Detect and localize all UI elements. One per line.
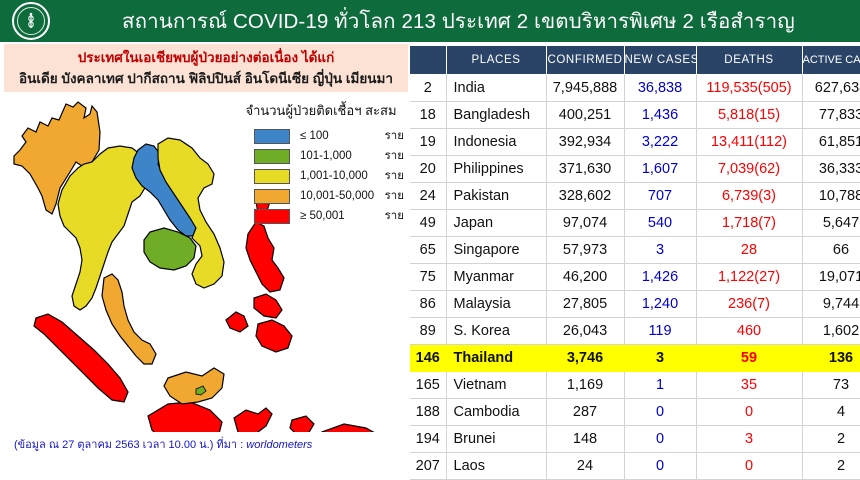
cell-active-cases: 2	[802, 426, 860, 453]
table-row[interactable]: 188Cambodia287004	[410, 399, 860, 426]
cell-new-cases: 1,436	[624, 102, 696, 129]
table-row[interactable]: 146Thailand3,746359136	[410, 345, 860, 372]
country-indonesia-borneo	[148, 402, 222, 432]
legend-item: 10,001-50,000 ราย	[236, 187, 406, 205]
table-row[interactable]: 165Vietnam1,16913573	[410, 372, 860, 399]
country-indonesia-papua	[322, 424, 396, 432]
cell-deaths: 7,039(62)	[696, 156, 802, 183]
cell-confirmed: 57,973	[546, 237, 624, 264]
cell-deaths: 5,818(15)	[696, 102, 802, 129]
cell-active-cases: 1,602	[802, 318, 860, 345]
cell-confirmed: 371,630	[546, 156, 624, 183]
legend-label: 1,001-10,000	[300, 170, 368, 182]
country-stats-table: PLACES CONFIRMED NEW CASES DEATHS ACTIVE…	[410, 45, 860, 480]
cell-active-cases: 136	[802, 345, 860, 372]
legend-title: จำนวนผู้ป่วยติดเชื้อฯ สะสม	[236, 100, 406, 121]
legend-label: 101-1,000	[300, 150, 352, 162]
table-body: 2India7,945,88836,838119,535(505)627,638…	[410, 75, 860, 480]
cell-new-cases: 1	[624, 372, 696, 399]
column-header-rank	[410, 46, 446, 75]
cell-place: Laos	[446, 453, 546, 480]
cell-place: Vietnam	[446, 372, 546, 399]
legend-unit: ราย	[385, 187, 406, 205]
legend-unit: ราย	[385, 167, 406, 185]
caduceus-icon	[22, 12, 40, 30]
emblem-inner-ring	[17, 7, 45, 35]
source-note-source: worldometers	[246, 439, 312, 451]
cell-rank: 207	[410, 453, 446, 480]
cell-confirmed: 287	[546, 399, 624, 426]
country-philippines-visayas	[254, 294, 282, 318]
country-malaysia-borneo	[164, 368, 224, 404]
cell-new-cases: 1,240	[624, 291, 696, 318]
cell-place: Singapore	[446, 237, 546, 264]
legend-label: ≥ 50,001	[300, 210, 345, 222]
table-row[interactable]: 2India7,945,88836,838119,535(505)627,638	[410, 75, 860, 102]
country-indonesia-maluku	[290, 416, 314, 432]
country-indonesia-sulawesi	[234, 408, 272, 432]
cell-active-cases: 61,851	[802, 129, 860, 156]
cell-rank: 2	[410, 75, 446, 102]
cell-rank: 194	[410, 426, 446, 453]
cell-confirmed: 3,746	[546, 345, 624, 372]
table-row[interactable]: 86Malaysia27,8051,240236(7)9,744	[410, 291, 860, 318]
cell-deaths: 460	[696, 318, 802, 345]
legend-unit: ราย	[385, 147, 406, 165]
cell-confirmed: 26,043	[546, 318, 624, 345]
table-row[interactable]: 18Bangladesh400,2511,4365,818(15)77,833	[410, 102, 860, 129]
legend-swatch-101-1000	[254, 149, 290, 164]
cell-confirmed: 46,200	[546, 264, 624, 291]
cell-place: Japan	[446, 210, 546, 237]
cell-active-cases: 5,647	[802, 210, 860, 237]
country-malaysia-peninsular	[102, 274, 156, 364]
cell-rank: 165	[410, 372, 446, 399]
cell-confirmed: 1,169	[546, 372, 624, 399]
legend-swatch-1001-10000	[254, 169, 290, 184]
cell-rank: 49	[410, 210, 446, 237]
cell-rank: 19	[410, 129, 446, 156]
table-row[interactable]: 20Philippines371,6301,6077,039(62)36,333	[410, 156, 860, 183]
cell-confirmed: 97,074	[546, 210, 624, 237]
cell-new-cases: 3	[624, 237, 696, 264]
column-header-places: PLACES	[446, 46, 546, 75]
cell-rank: 24	[410, 183, 446, 210]
cell-deaths: 0	[696, 399, 802, 426]
cell-active-cases: 19,071	[802, 264, 860, 291]
left-panel: ประเทศในเอเชียพบผู้ป่วยอย่างต่อเนื่อง ได…	[0, 42, 408, 465]
cell-new-cases: 1,607	[624, 156, 696, 183]
table-row[interactable]: 207Laos24002	[410, 453, 860, 480]
page-title: สถานการณ์ COVID-19 ทั่วโลก 213 ประเทศ 2 …	[62, 5, 795, 38]
legend-unit: ราย	[385, 127, 406, 145]
country-philippines-luzon	[246, 222, 284, 292]
notice-line-2: อินเดีย บังคลาเทศ ปากีสถาน ฟิลิปปินส์ อิ…	[4, 68, 408, 90]
cell-deaths: 13,411(112)	[696, 129, 802, 156]
cell-deaths: 236(7)	[696, 291, 802, 318]
table-header-row: PLACES CONFIRMED NEW CASES DEATHS ACTIVE…	[410, 46, 860, 75]
cell-confirmed: 7,945,888	[546, 75, 624, 102]
cell-new-cases: 0	[624, 399, 696, 426]
legend-item: 101-1,000 ราย	[236, 147, 406, 165]
cell-new-cases: 540	[624, 210, 696, 237]
cell-deaths: 3	[696, 426, 802, 453]
table-row[interactable]: 194Brunei148032	[410, 426, 860, 453]
column-header-confirmed: CONFIRMED	[546, 46, 624, 75]
cell-rank: 86	[410, 291, 446, 318]
cell-deaths: 6,739(3)	[696, 183, 802, 210]
legend-unit: ราย	[385, 207, 406, 225]
cell-active-cases: 627,638	[802, 75, 860, 102]
cell-place: Myanmar	[446, 264, 546, 291]
cell-confirmed: 392,934	[546, 129, 624, 156]
cell-place: S. Korea	[446, 318, 546, 345]
legend-swatch-ge-50001	[254, 209, 290, 224]
cell-deaths: 28	[696, 237, 802, 264]
legend-swatch-10001-50000	[254, 189, 290, 204]
cell-new-cases: 1,426	[624, 264, 696, 291]
legend-label: 10,001-50,000	[300, 190, 374, 202]
cell-new-cases: 3,222	[624, 129, 696, 156]
cell-rank: 89	[410, 318, 446, 345]
cell-new-cases: 707	[624, 183, 696, 210]
cell-confirmed: 24	[546, 453, 624, 480]
cell-active-cases: 77,833	[802, 102, 860, 129]
ministry-of-public-health-emblem-icon	[12, 2, 50, 40]
legend-item: ≥ 50,001 ราย	[236, 207, 406, 225]
legend-swatch-le-100	[254, 129, 290, 144]
cell-active-cases: 36,333	[802, 156, 860, 183]
country-philippines-palawan	[226, 312, 248, 332]
table-row[interactable]: 49Japan97,0745401,718(7)5,647	[410, 210, 860, 237]
column-header-deaths: DEATHS	[696, 46, 802, 75]
cell-deaths: 59	[696, 345, 802, 372]
cell-active-cases: 66	[802, 237, 860, 264]
cell-deaths: 35	[696, 372, 802, 399]
table-row[interactable]: 19Indonesia392,9343,22213,411(112)61,851	[410, 129, 860, 156]
table-row[interactable]: 75Myanmar46,2001,4261,122(27)19,071	[410, 264, 860, 291]
cell-rank: 75	[410, 264, 446, 291]
asia-notice-banner: ประเทศในเอเชียพบผู้ป่วยอย่างต่อเนื่อง ได…	[4, 44, 408, 92]
cell-place: India	[446, 75, 546, 102]
cell-rank: 188	[410, 399, 446, 426]
cell-new-cases: 3	[624, 345, 696, 372]
country-philippines-mindanao	[256, 320, 292, 352]
cell-deaths: 0	[696, 453, 802, 480]
cell-place: Malaysia	[446, 291, 546, 318]
cell-active-cases: 9,744	[802, 291, 860, 318]
cell-rank: 65	[410, 237, 446, 264]
cell-confirmed: 27,805	[546, 291, 624, 318]
cell-deaths: 1,718(7)	[696, 210, 802, 237]
cell-place: Pakistan	[446, 183, 546, 210]
cell-active-cases: 73	[802, 372, 860, 399]
page-header: สถานการณ์ COVID-19 ทั่วโลก 213 ประเทศ 2 …	[0, 0, 860, 42]
cell-place: Cambodia	[446, 399, 546, 426]
cell-rank: 146	[410, 345, 446, 372]
cell-deaths: 1,122(27)	[696, 264, 802, 291]
column-header-active-cases: ACTIVE CASES	[802, 46, 860, 75]
cell-active-cases: 10,788	[802, 183, 860, 210]
cell-confirmed: 400,251	[546, 102, 624, 129]
cell-deaths: 119,535(505)	[696, 75, 802, 102]
source-note-prefix: (ข้อมูล ณ 27 ตุลาคม 2563 เวลา 10.00 น.) …	[14, 439, 246, 451]
source-note: (ข้อมูล ณ 27 ตุลาคม 2563 เวลา 10.00 น.) …	[14, 435, 312, 453]
country-stats-table-container: PLACES CONFIRMED NEW CASES DEATHS ACTIVE…	[410, 45, 860, 480]
legend-item: ≤ 100 ราย	[236, 127, 406, 145]
cell-rank: 20	[410, 156, 446, 183]
column-header-new-cases: NEW CASES	[624, 46, 696, 75]
table-row[interactable]: 24Pakistan328,6027076,739(3)10,788	[410, 183, 860, 210]
cell-new-cases: 0	[624, 453, 696, 480]
cell-active-cases: 4	[802, 399, 860, 426]
legend-label: ≤ 100	[300, 130, 329, 142]
cell-new-cases: 0	[624, 426, 696, 453]
cell-place: Indonesia	[446, 129, 546, 156]
logo-container	[0, 0, 62, 42]
cell-confirmed: 328,602	[546, 183, 624, 210]
table-row[interactable]: 65Singapore57,97332866	[410, 237, 860, 264]
cell-place: Thailand	[446, 345, 546, 372]
table-row[interactable]: 89S. Korea26,0431194601,602	[410, 318, 860, 345]
cell-rank: 18	[410, 102, 446, 129]
cell-place: Bangladesh	[446, 102, 546, 129]
cell-new-cases: 119	[624, 318, 696, 345]
cell-place: Brunei	[446, 426, 546, 453]
cell-active-cases: 2	[802, 453, 860, 480]
notice-line-1: ประเทศในเอเชียพบผู้ป่วยอย่างต่อเนื่อง ได…	[4, 47, 408, 68]
map-legend: จำนวนผู้ป่วยติดเชื้อฯ สะสม ≤ 100 ราย 101…	[236, 100, 406, 227]
cell-confirmed: 148	[546, 426, 624, 453]
cell-new-cases: 36,838	[624, 75, 696, 102]
cell-place: Philippines	[446, 156, 546, 183]
legend-item: 1,001-10,000 ราย	[236, 167, 406, 185]
